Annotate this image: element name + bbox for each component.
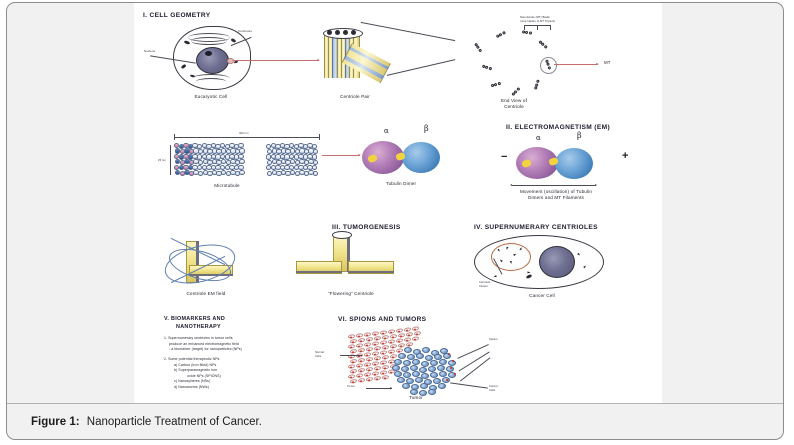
label-normal-cells-line1: Normal (315, 351, 324, 354)
label-mt: MT (604, 60, 611, 65)
caption-microtubule: Microtubule (192, 183, 262, 188)
leader-to-endview-bottom (387, 59, 455, 75)
biomarkers-item2-d: d) Nanoworms (NWs) (174, 385, 209, 389)
biomarkers-item1-line3: - a biomarker (target) for nanoparticles… (169, 347, 242, 351)
caption-endview-line2: Centriole (474, 104, 554, 109)
label-tumor-arrow: Tumor (347, 385, 355, 388)
caption-cancer-cell: Cancer Cell (512, 293, 572, 298)
label-scale-400nm: 400 nm (237, 132, 251, 135)
figure-caption-body: Nanoparticle Treatment of Cancer. (87, 416, 262, 428)
caption-flowering-centriole: “Flowering” Centriole (312, 291, 390, 296)
arrowhead-2 (358, 154, 361, 156)
caption-em-line1: Movement (oscillation) of Tubulin (506, 189, 606, 194)
figure-image: I. CELL GEOMETRY Nucleus Centrioles Euca… (134, 3, 662, 403)
leader-mt-to-dimer (322, 155, 360, 156)
figure-panel: I. CELL GEOMETRY Nucleus Centrioles Euca… (6, 2, 784, 440)
biomarkers-item2-a: a) Carbon (iron filled) NPs (174, 363, 216, 367)
annotation-nanotubule-line1: Nanotubule (MT) Blade (520, 16, 550, 19)
caption-eucaryotic-cell: Eucaryotic Cell (172, 94, 250, 99)
label-alpha-dimer: α (384, 127, 389, 135)
label-normal-cells-line2: Cells (315, 355, 321, 358)
arrowhead-1 (317, 59, 320, 61)
caption-tumor: Tumor (386, 395, 446, 400)
section-heading-biomarkers-line2: NANOTHERAPY (176, 324, 221, 330)
biomarkers-item1-line1: 1. Supernumerary centrioles in tumor cel… (164, 336, 233, 340)
annotation-nanotubule-line2: (nine blades of MT Triplets) (520, 20, 555, 23)
label-centrioles: Centrioles (238, 29, 252, 33)
label-nucleus: Nucleus (144, 49, 155, 53)
label-cancer-cells-line1: Cancer (489, 385, 498, 388)
caption-em-line2: Dimers and MT Filaments (506, 195, 606, 200)
caption-endview-line1: End View of (474, 98, 554, 103)
biomarkers-item1-line2: produce an enhanced electromagnetic fiel… (169, 342, 239, 346)
figure-caption: Figure 1: Nanoparticle Treatment of Canc… (31, 416, 262, 428)
caption-tubulin-dimer: Tubulin Dimer (366, 181, 436, 186)
caption-centriole-em-field: Centriole EM field (168, 291, 244, 296)
label-beta-dimer: β (424, 124, 429, 133)
label-centriole-cluster-line1: Centriole (479, 281, 490, 284)
label-centriole-cluster-line2: Cluster (479, 285, 488, 288)
charge-plus: + (622, 150, 628, 162)
label-diameter-25nm: 25 nm (158, 159, 166, 162)
section-heading-tumorgenesis: III. TUMORGENESIS (332, 224, 401, 231)
section-heading-electromagnetism: II. ELECTROMAGNETISM (EM) (506, 124, 610, 131)
leader-cell-to-centriole (233, 60, 319, 61)
biomarkers-item2-b-line1: b) Superparamagnetic iron (174, 368, 217, 372)
biomarkers-item2-b-line2: oxide NPs (SPIONS) (187, 374, 221, 378)
label-spions: Spions (489, 338, 498, 341)
charge-minus: − (501, 151, 507, 163)
label-beta-em: β (577, 131, 582, 140)
section-heading-cell-geometry: I. CELL GEOMETRY (143, 12, 211, 19)
biomarkers-item2-c: c) Nanospheres (NSs) (174, 379, 210, 383)
figure-caption-label: Figure 1: (31, 416, 80, 428)
leader-to-endview-top (361, 22, 455, 41)
section-heading-spions-tumors: VI. SPIONS AND TUMORS (338, 316, 426, 323)
section-heading-supernumerary: IV. SUPERNUMERARY CENTRIOLES (474, 224, 598, 231)
biomarkers-item2-line1: 2. Some potential therapeutic NPs (164, 357, 219, 361)
figure-caption-bar: Figure 1: Nanoparticle Treatment of Canc… (7, 403, 783, 439)
section-heading-biomarkers-line1: V. BIOMARKERS AND (164, 316, 225, 322)
label-alpha-em: α (536, 134, 541, 142)
label-cancer-cells-line2: Cells (489, 389, 495, 392)
caption-centriole-pair: Centriole Pair (316, 94, 394, 99)
